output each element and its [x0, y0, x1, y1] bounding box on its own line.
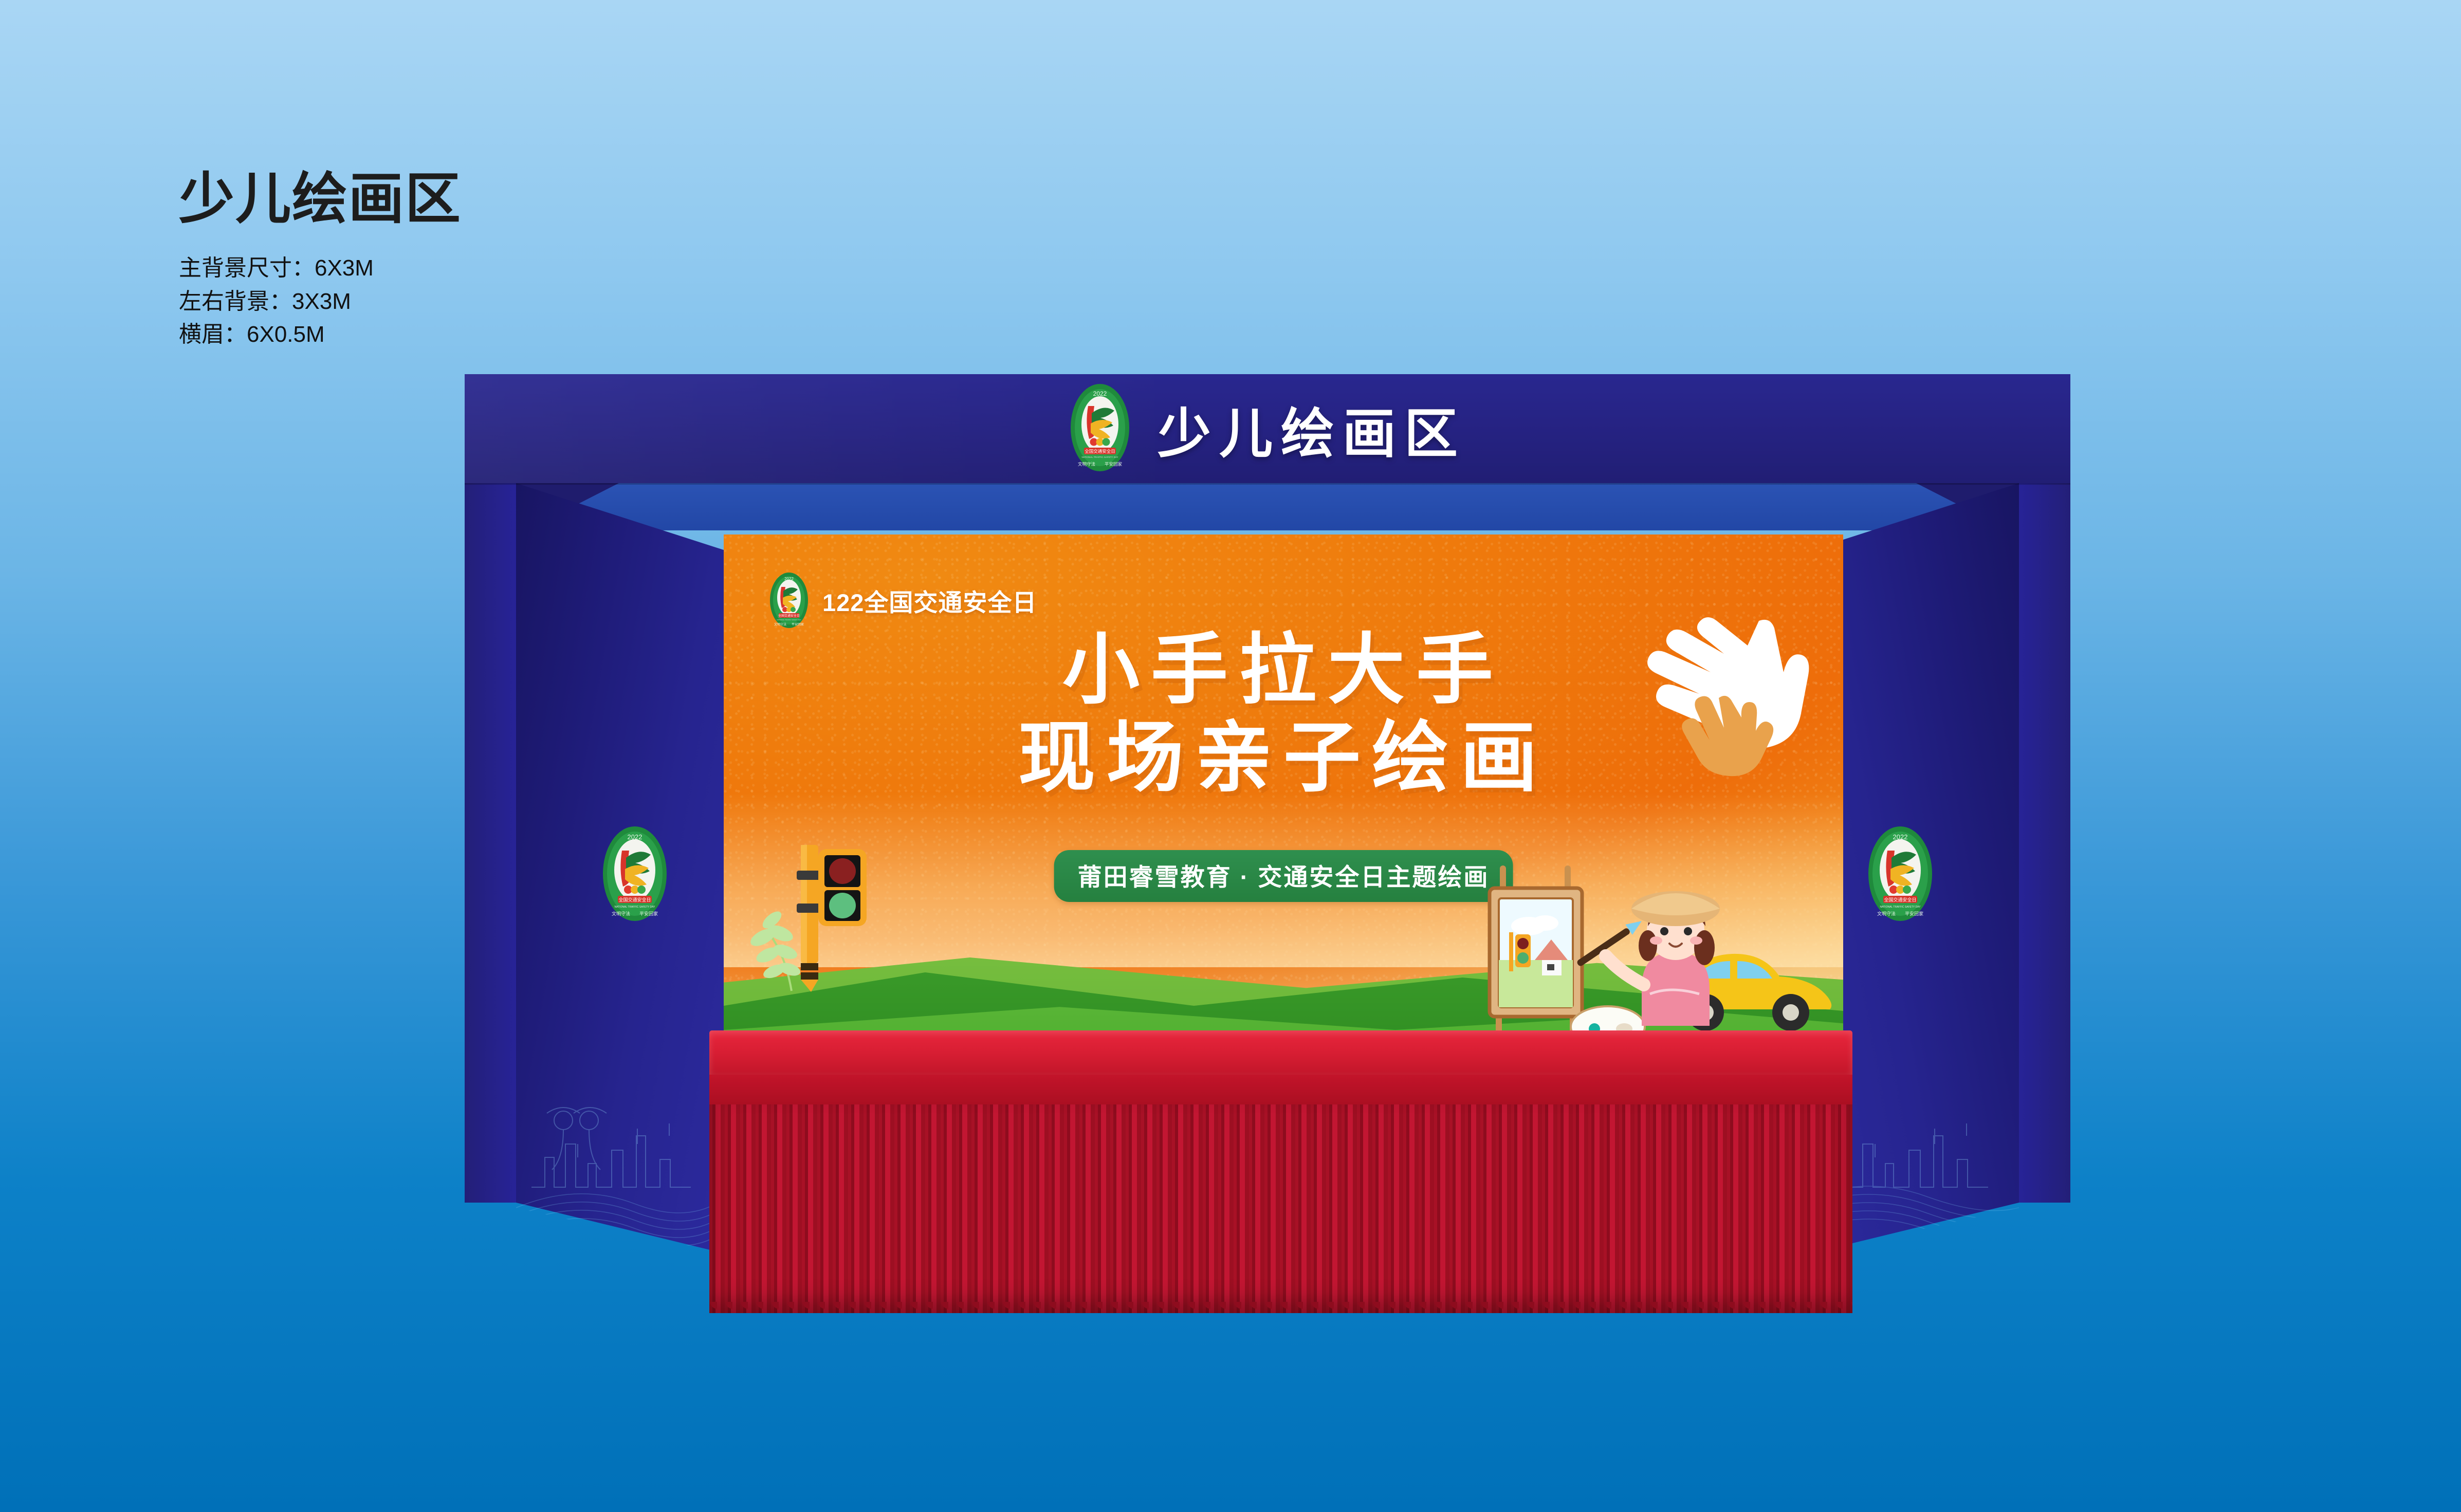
exhibition-booth: 2022 全国交通安全日 NATIONAL TRAFFIC SAFETY DAY…: [452, 360, 2087, 1295]
svg-text:NATIONAL TRAFFIC SAFETY DAY: NATIONAL TRAFFIC SAFETY DAY: [1880, 906, 1921, 909]
left-pillar: [465, 483, 516, 1203]
banner-subtitle-ribbon: 莆田睿雪教育 · 交通安全日主题绘画: [1054, 850, 1513, 902]
svg-text:2022: 2022: [784, 577, 794, 581]
svg-text:文明守法: 文明守法: [612, 911, 630, 916]
right-pillar: [2019, 483, 2070, 1203]
pencil-traffic-light-icon: [786, 840, 874, 994]
svg-text:2022: 2022: [1893, 833, 1908, 841]
svg-text:全国交通安全日: 全国交通安全日: [1884, 897, 1916, 902]
headline-line-1: 小手拉大手: [724, 623, 1843, 717]
svg-text:文明守法: 文明守法: [1078, 462, 1095, 467]
table-pleated-skirt: [709, 1104, 1852, 1313]
svg-text:文明守法: 文明守法: [1877, 911, 1896, 916]
svg-text:NATIONAL TRAFFIC SAFETY DAY: NATIONAL TRAFFIC SAFETY DAY: [1081, 456, 1118, 458]
table-top-surface: [709, 1030, 1852, 1075]
city-skyline-icon: [516, 966, 727, 1254]
beam-content: 2022 全国交通安全日 NATIONAL TRAFFIC SAFETY DAY…: [465, 374, 2070, 483]
left-wall-logo: 2022 全国交通安全日 NATIONAL TRAFFIC SAFETY DAY…: [601, 825, 668, 923]
svg-text:平安回家: 平安回家: [1905, 911, 1923, 916]
banner-subtitle-text: 莆田睿雪教育 · 交通安全日主题绘画: [1078, 857, 1490, 893]
svg-text:2022: 2022: [628, 833, 642, 841]
svg-text:平安回家: 平安回家: [639, 911, 658, 916]
annotation-block: 少儿绘画区 主背景尺寸：6X3M 左右背景：3X3M 横眉：6X0.5M: [179, 170, 641, 351]
header-beam: 2022 全国交通安全日 NATIONAL TRAFFIC SAFETY DAY…: [465, 374, 2070, 483]
national-traffic-safety-day-logo-icon: 2022 全国交通安全日 NATIONAL TRAFFIC SAFETY DAY…: [769, 571, 809, 629]
spec-item-header-banner: 横眉：6X0.5M: [179, 319, 641, 351]
svg-text:全国交通安全日: 全国交通安全日: [778, 614, 800, 618]
spec-item-main-background: 主背景尺寸：6X3M: [179, 252, 641, 284]
headline-line-2: 现场亲子绘画: [724, 711, 1843, 805]
red-skirted-table: [709, 1030, 1852, 1323]
spec-list: 主背景尺寸：6X3M 左右背景：3X3M 横眉：6X0.5M: [179, 252, 641, 351]
banner-kicker: 2022 全国交通安全日 NATIONAL TRAFFIC SAFETY DAY…: [769, 571, 1037, 629]
svg-text:全国交通安全日: 全国交通安全日: [1085, 449, 1115, 454]
svg-text:全国交通安全日: 全国交通安全日: [618, 897, 651, 902]
beam-logo-icon: 2022 全国交通安全日 NATIONAL TRAFFIC SAFETY DAY…: [1069, 382, 1131, 475]
banner-kicker-text: 122全国交通安全日: [822, 583, 1037, 618]
spec-item-side-background: 左右背景：3X3M: [179, 286, 641, 318]
svg-text:NATIONAL TRAFFIC SAFETY DAY: NATIONAL TRAFFIC SAFETY DAY: [615, 906, 656, 909]
girl-painting-at-easel-icon: [1467, 859, 1786, 1055]
beam-title-text: 少儿绘画区: [1158, 390, 1466, 468]
page-title: 少儿绘画区: [179, 170, 641, 228]
svg-text:NATIONAL TRAFFIC SAFETY DAY: NATIONAL TRAFFIC SAFETY DAY: [777, 619, 801, 621]
table-front-band: [709, 1075, 1852, 1104]
right-wall-logo: 2022 全国交通安全日 NATIONAL TRAFFIC SAFETY DAY…: [1867, 825, 1934, 923]
table-skirt-hem: [709, 1302, 1852, 1315]
svg-text:平安回家: 平安回家: [1105, 462, 1123, 467]
main-backdrop-banner: 2022 全国交通安全日 NATIONAL TRAFFIC SAFETY DAY…: [724, 534, 1843, 1055]
banner-headline: 小手拉大手 现场亲子绘画: [724, 623, 1843, 805]
svg-text:2022: 2022: [1093, 390, 1107, 397]
beam-under-strip: [465, 483, 2070, 530]
